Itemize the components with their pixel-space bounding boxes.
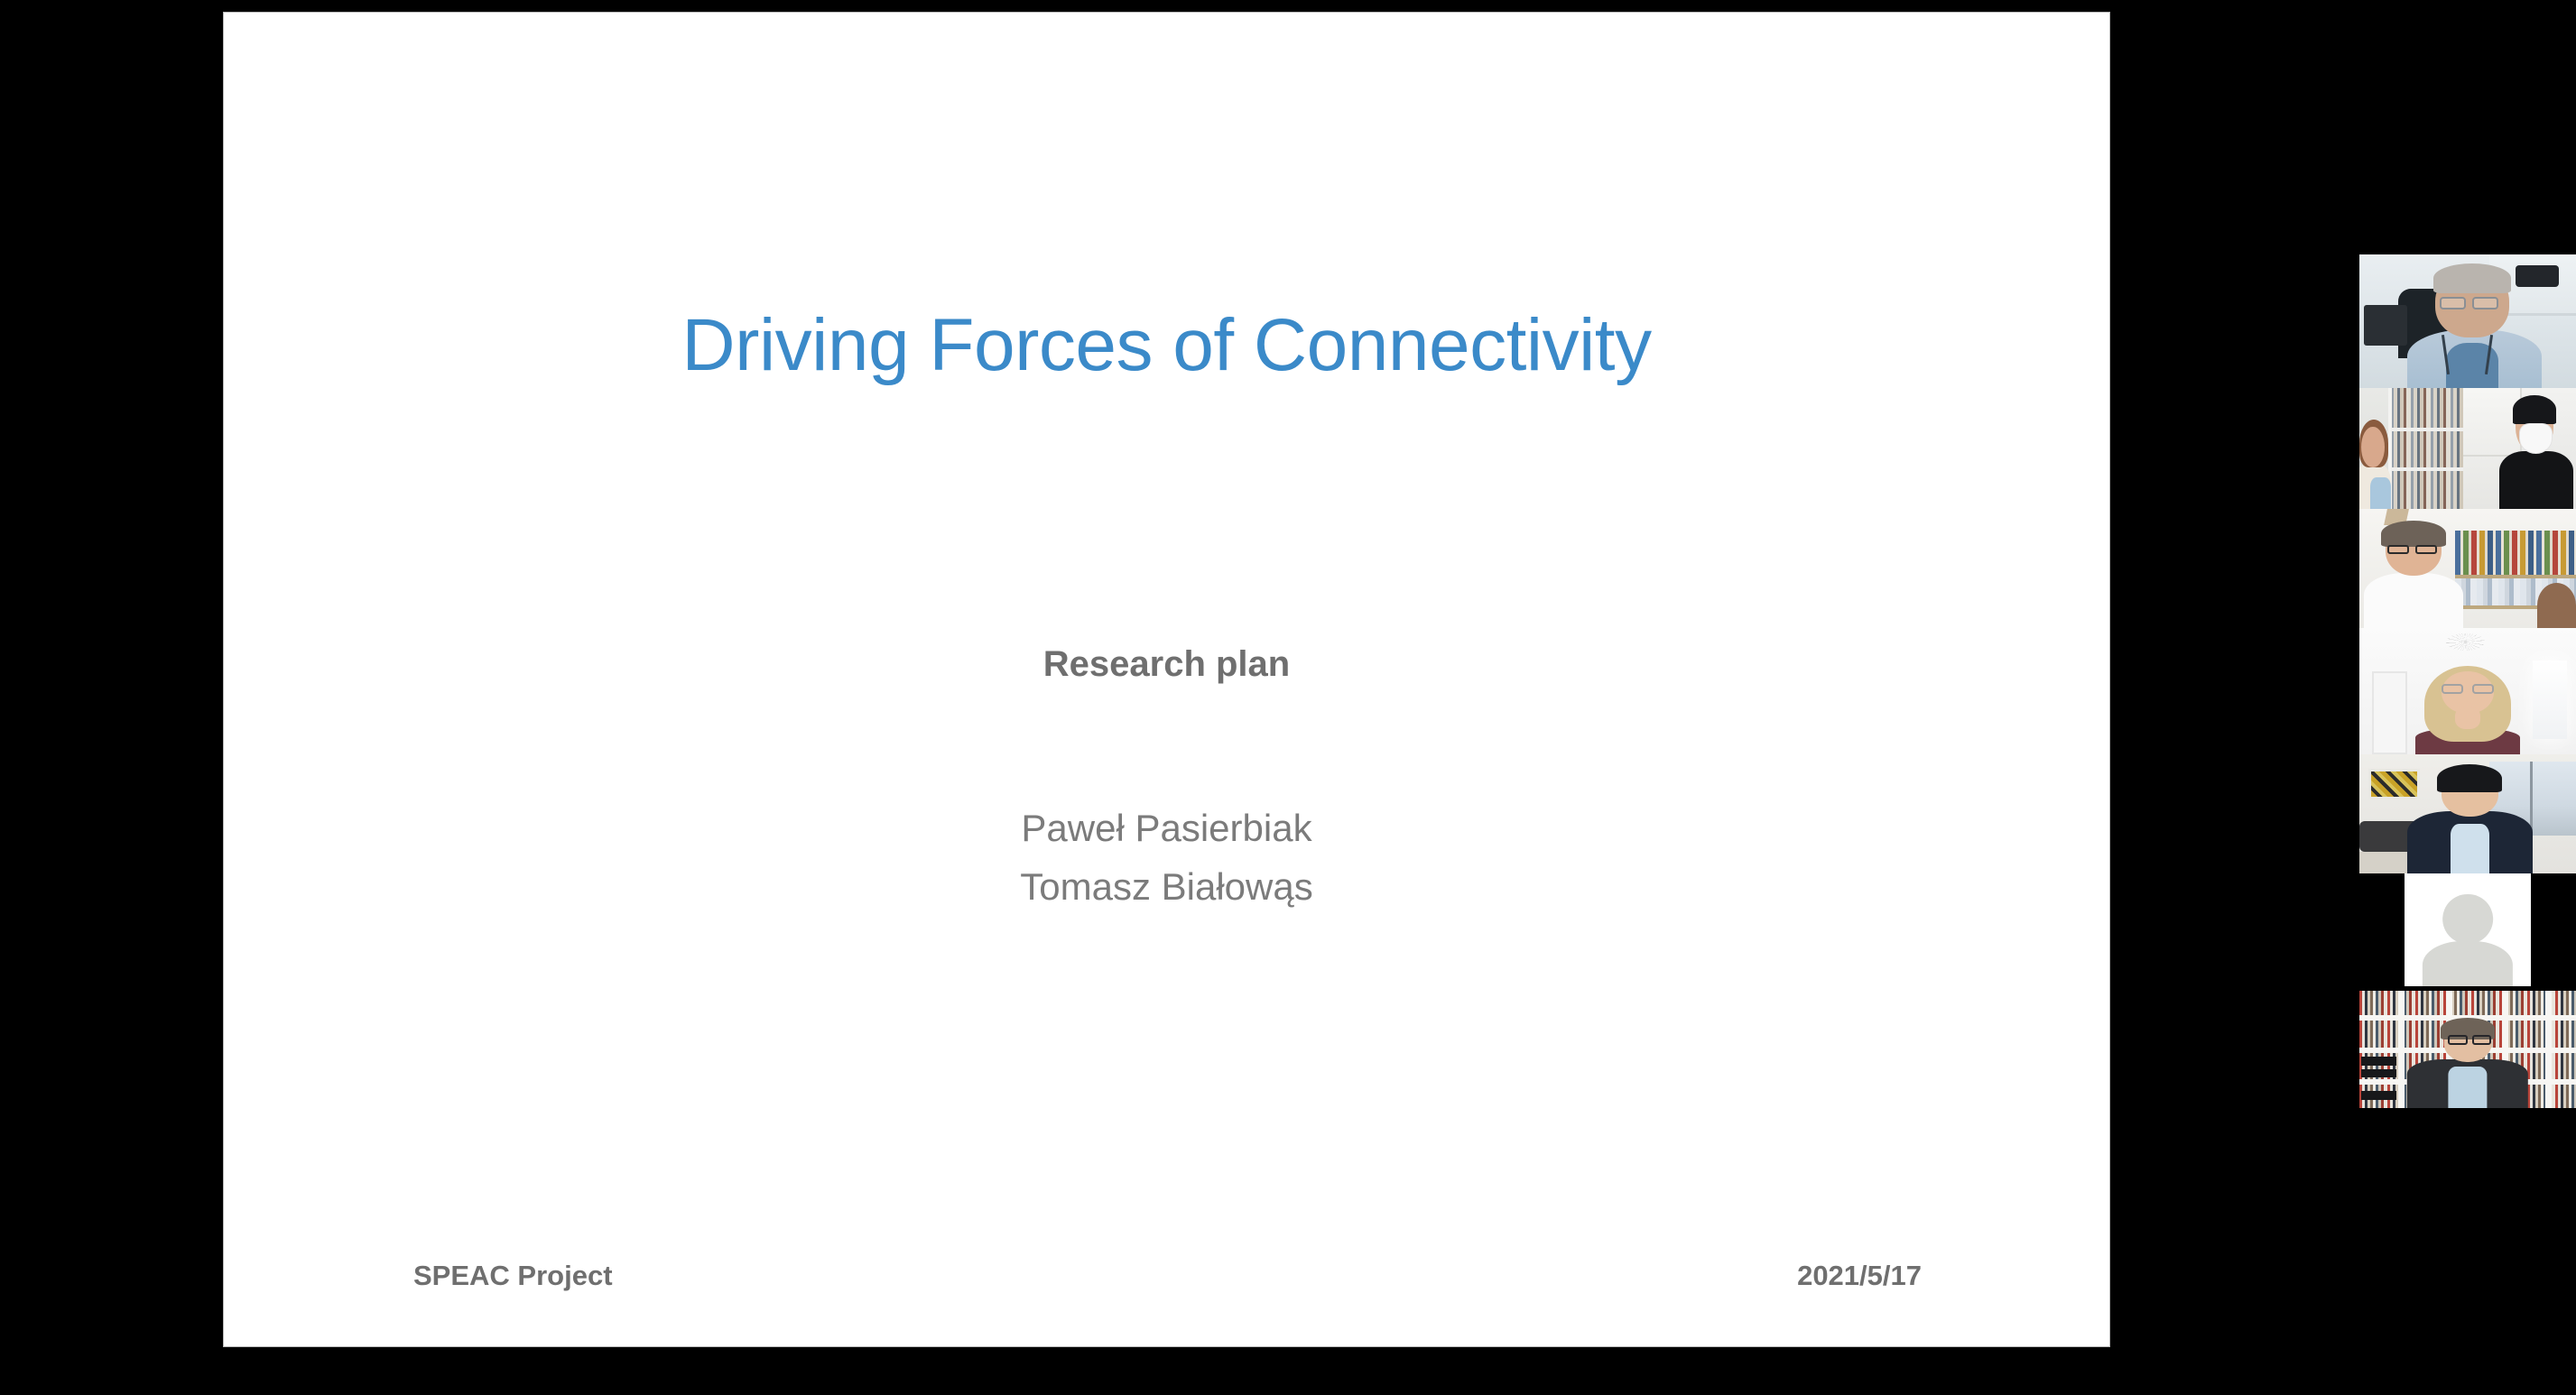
screen-share-viewport: Driving Forces of Connectivity Research … <box>0 0 2576 1395</box>
participant-tile-6[interactable] <box>2359 873 2576 986</box>
shelf-line-shape <box>2391 467 2464 471</box>
person-hair-shape <box>2437 764 2502 793</box>
glasses-icon <box>2440 297 2466 309</box>
presentation-slide[interactable]: Driving Forces of Connectivity Research … <box>224 13 2109 1346</box>
avatar-icon <box>2423 941 2513 986</box>
person-head-shape <box>2361 427 2384 468</box>
glasses-icon <box>2448 1035 2468 1045</box>
storage-box-shape <box>2361 1057 2395 1065</box>
shelf-line-shape <box>2391 428 2464 431</box>
person-hair-shape <box>2433 263 2511 293</box>
video-feed-background <box>2359 628 2576 754</box>
slide-footer-date: 2021/5/17 <box>1797 1260 1922 1292</box>
bookshelf-shape <box>2455 531 2576 578</box>
participant-tile-3[interactable] <box>2359 509 2576 628</box>
avatar-icon <box>2442 894 2493 945</box>
person-hair-shape <box>2381 521 2446 547</box>
person-shirt-shape <box>2370 477 2391 509</box>
glasses-icon <box>2472 1035 2492 1045</box>
participant-filmstrip[interactable] <box>2359 254 2576 1108</box>
participant-tile-2-left[interactable] <box>2359 388 2463 509</box>
person-hair-shape <box>2513 395 2555 424</box>
participant-tile-7[interactable] <box>2359 986 2576 1108</box>
video-feed-background <box>2359 254 2576 388</box>
glasses-icon <box>2415 545 2437 555</box>
slide-subtitle: Research plan <box>224 644 2109 685</box>
glasses-icon <box>2472 297 2498 309</box>
door-shape <box>2372 671 2406 754</box>
video-feed-background <box>2359 509 2576 628</box>
monitor-shape <box>2364 305 2407 345</box>
slide-author-2: Tomasz Białowąs <box>224 865 2109 909</box>
wall-art-shape <box>2368 769 2421 799</box>
participant-tile-5[interactable] <box>2359 754 2576 873</box>
storage-box-shape <box>2361 1069 2395 1077</box>
slide-footer-project: SPEAC Project <box>413 1260 613 1292</box>
ceiling-lamp-shape <box>2446 633 2485 651</box>
person-shirt-shape <box>2364 573 2463 628</box>
slide-author-1: Paweł Pasierbiak <box>224 807 2109 850</box>
video-feed-background <box>2359 986 2576 1108</box>
glasses-icon <box>2442 684 2463 694</box>
avatar-card <box>2405 873 2530 986</box>
video-feed-background <box>2359 388 2463 509</box>
person-shirt-shape <box>2448 1067 2487 1108</box>
glasses-icon <box>2387 545 2409 555</box>
participant-tile-4[interactable] <box>2359 628 2576 754</box>
letterbox-bar <box>2359 986 2576 991</box>
shelf-object-shape <box>2516 265 2559 287</box>
participant-tile-2[interactable] <box>2359 388 2576 509</box>
glasses-icon <box>2472 684 2494 694</box>
window-shape <box>2533 661 2567 739</box>
person-torso-shape <box>2499 451 2573 509</box>
participant-tile-2-right[interactable] <box>2463 388 2576 509</box>
second-person-shape <box>2537 583 2576 628</box>
participant-tile-1[interactable] <box>2359 254 2576 388</box>
person-shirt-shape <box>2451 824 2489 873</box>
person-hand-shape <box>2455 707 2481 729</box>
bookshelf-shape <box>2391 388 2464 509</box>
face-mask-shape <box>2520 424 2552 453</box>
storage-box-shape <box>2361 1091 2395 1099</box>
video-feed-background <box>2463 388 2576 509</box>
video-feed-background <box>2359 754 2576 873</box>
window-mullion-shape <box>2530 762 2533 836</box>
slide-title: Driving Forces of Connectivity <box>224 303 2109 388</box>
